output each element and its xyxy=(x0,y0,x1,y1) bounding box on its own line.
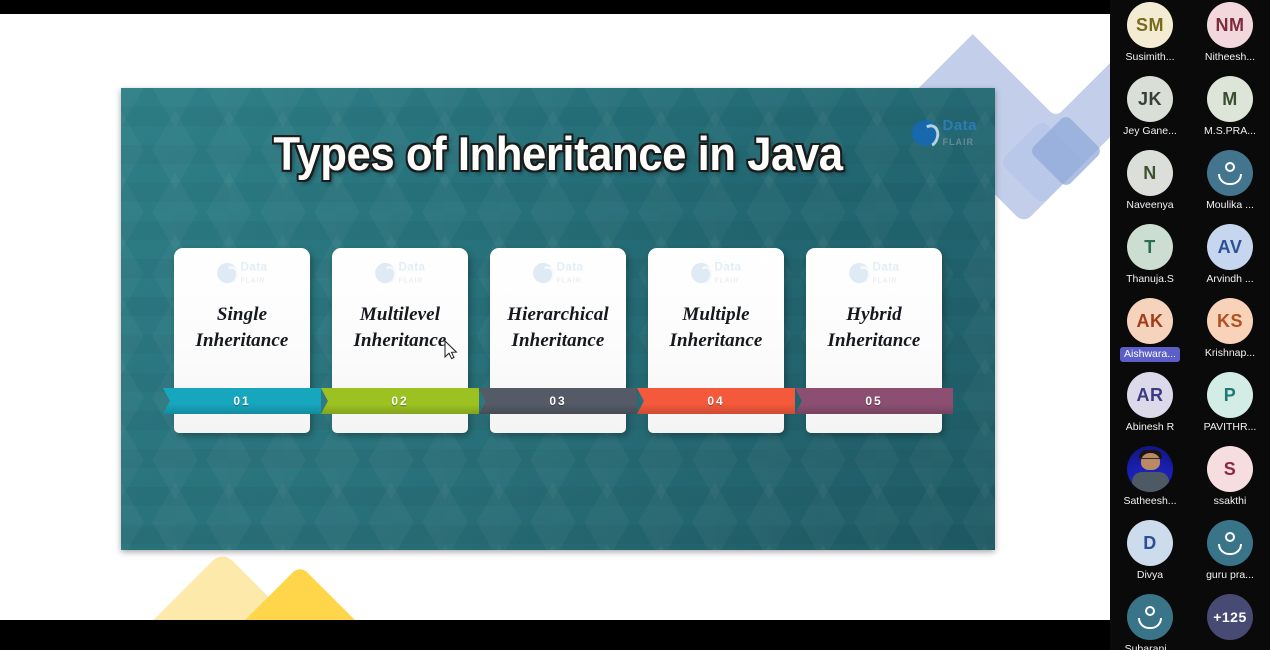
participant-tile[interactable]: AVArvindh ... xyxy=(1191,222,1269,296)
participant-tile[interactable]: +125 xyxy=(1191,592,1269,650)
card-title: Multiple Inheritance xyxy=(648,302,784,353)
letterbox-bar-top xyxy=(0,7,1110,14)
logo-secondary-text: FLAIR xyxy=(556,276,581,284)
card-number-ribbon: 02 xyxy=(321,388,479,414)
participant-tile[interactable]: MM.S.PRA... xyxy=(1191,74,1269,148)
participant-avatar: NM xyxy=(1207,2,1253,48)
logo-primary-text: Data xyxy=(872,261,899,274)
logo-primary-text: Data xyxy=(398,261,425,274)
person-icon xyxy=(1127,594,1173,640)
participant-avatar: M xyxy=(1207,76,1253,122)
participant-name: Krishnap... xyxy=(1205,347,1255,360)
participant-tile[interactable]: SMSusimith... xyxy=(1111,0,1189,74)
card-title-line2: Inheritance xyxy=(354,330,447,351)
participant-tile[interactable]: Satheesh... xyxy=(1111,444,1189,518)
participant-name: PAVITHR... xyxy=(1204,421,1257,434)
letterbox-bar-bottom xyxy=(0,620,1110,635)
participant-name: Satheesh... xyxy=(1123,495,1176,508)
participant-tile[interactable]: NNaveenya xyxy=(1111,148,1189,222)
participant-avatar: T xyxy=(1127,224,1173,270)
inheritance-card-list: Data FLAIR Single Inheritance 01 xyxy=(121,248,995,448)
participant-avatar: AR xyxy=(1127,372,1173,418)
card-title-line1: Multiple xyxy=(682,304,749,325)
dataflair-logo-icon xyxy=(217,263,237,283)
participant-avatar: D xyxy=(1127,520,1173,566)
participant-name: M.S.PRA... xyxy=(1204,125,1256,138)
card-number: 03 xyxy=(549,394,566,408)
card-watermark-logo: Data FLAIR xyxy=(533,261,583,285)
participant-rail[interactable]: SMSusimith...NMNitheesh...JKJey Gane...M… xyxy=(1110,0,1270,650)
participant-tile[interactable]: AKAishwara... xyxy=(1111,296,1189,370)
participant-name: Moulika ... xyxy=(1206,199,1254,212)
slide-title: Types of Inheritance in Java xyxy=(152,126,965,181)
participant-tile[interactable]: guru pra... xyxy=(1191,518,1269,592)
participant-avatar: S xyxy=(1207,446,1253,492)
card-title-line2: Inheritance xyxy=(512,330,605,351)
meeting-window: Types of Inheritance in Java Data FLAIR … xyxy=(0,0,1270,650)
dataflair-logo-icon xyxy=(691,263,711,283)
participant-tile[interactable]: Sssakthi xyxy=(1191,444,1269,518)
participant-tile[interactable]: Moulika ... xyxy=(1191,148,1269,222)
screen-share-stage[interactable]: Types of Inheritance in Java Data FLAIR … xyxy=(0,7,1110,635)
participant-tile[interactable]: Subaranj... xyxy=(1111,592,1189,650)
card-title-line1: Multilevel xyxy=(360,304,440,325)
card-number-ribbon: 01 xyxy=(163,388,321,414)
card-title: Multilevel Inheritance xyxy=(332,302,468,353)
logo-primary-text: Data xyxy=(556,261,583,274)
participant-avatar: AV xyxy=(1207,224,1253,270)
card-number: 05 xyxy=(865,394,882,408)
card-watermark-logo: Data FLAIR xyxy=(375,261,425,285)
participant-avatar: P xyxy=(1207,372,1253,418)
participant-video-feed xyxy=(1127,446,1173,492)
participant-tile[interactable]: NMNitheesh... xyxy=(1191,0,1269,74)
decorative-shape-diamond-light xyxy=(1000,120,1085,205)
participant-name: Abinesh R xyxy=(1126,421,1174,434)
participant-avatar: SM xyxy=(1127,2,1173,48)
participant-tile[interactable]: JKJey Gane... xyxy=(1111,74,1189,148)
card-watermark-logo: Data FLAIR xyxy=(849,261,899,285)
participant-tile[interactable]: KSKrishnap... xyxy=(1191,296,1269,370)
card-number-ribbon: 05 xyxy=(795,388,953,414)
inheritance-card[interactable]: Data FLAIR Hybrid Inheritance 05 xyxy=(806,248,942,433)
participant-tile[interactable]: ARAbinesh R xyxy=(1111,370,1189,444)
participant-name: Subaranj... xyxy=(1125,643,1176,650)
dataflair-logo-icon xyxy=(849,263,869,283)
participant-avatar: JK xyxy=(1127,76,1173,122)
dataflair-logo: Data FLAIR xyxy=(912,118,977,148)
decorative-shape-diamond-dark xyxy=(1029,114,1103,188)
card-title-line2: Inheritance xyxy=(670,330,763,351)
logo-secondary-text: FLAIR xyxy=(398,276,423,284)
person-icon xyxy=(1207,520,1253,566)
participant-name: Nitheesh... xyxy=(1205,51,1255,64)
card-number: 04 xyxy=(707,394,724,408)
participant-name: Jey Gane... xyxy=(1123,125,1177,138)
inheritance-card[interactable]: Data FLAIR Multiple Inheritance 04 xyxy=(648,248,784,433)
card-title: Hybrid Inheritance xyxy=(806,302,942,353)
logo-secondary-text: FLAIR xyxy=(240,276,265,284)
participant-name: ssakthi xyxy=(1214,495,1247,508)
logo-primary-text: Data xyxy=(240,261,267,274)
card-title-line1: Hierarchical xyxy=(507,304,608,325)
participant-name: Susimith... xyxy=(1125,51,1174,64)
logo-primary-text: Data xyxy=(942,117,977,134)
card-number-ribbon: 03 xyxy=(479,388,637,414)
card-watermark-logo: Data FLAIR xyxy=(217,261,267,285)
card-watermark-logo: Data FLAIR xyxy=(691,261,741,285)
participant-name: Arvindh ... xyxy=(1206,273,1253,286)
card-title: Hierarchical Inheritance xyxy=(490,302,626,353)
participant-avatar: N xyxy=(1127,150,1173,196)
inheritance-card[interactable]: Data FLAIR Single Inheritance 01 xyxy=(174,248,310,433)
participant-avatar: KS xyxy=(1207,298,1253,344)
participant-tile[interactable]: PPAVITHR... xyxy=(1191,370,1269,444)
dataflair-logo-icon xyxy=(912,120,938,146)
participant-name: guru pra... xyxy=(1206,569,1254,582)
card-title-line2: Inheritance xyxy=(828,330,921,351)
overflow-count-badge: +125 xyxy=(1207,594,1253,640)
presentation-slide: Types of Inheritance in Java Data FLAIR … xyxy=(121,88,995,550)
participant-name: Divya xyxy=(1137,569,1163,582)
logo-primary-text: Data xyxy=(714,261,741,274)
card-number-ribbon: 04 xyxy=(637,388,795,414)
participant-tile[interactable]: TThanuja.S xyxy=(1111,222,1189,296)
logo-secondary-text: FLAIR xyxy=(942,137,974,147)
participant-tile[interactable]: DDivya xyxy=(1111,518,1189,592)
person-icon xyxy=(1207,150,1253,196)
participant-name: Naveenya xyxy=(1126,199,1173,212)
logo-secondary-text: FLAIR xyxy=(872,276,897,284)
dataflair-logo-icon xyxy=(533,263,553,283)
card-number: 02 xyxy=(391,394,408,408)
card-number: 01 xyxy=(233,394,250,408)
card-title-line1: Single xyxy=(217,304,267,325)
card-title-line1: Hybrid xyxy=(846,304,902,325)
dataflair-logo-icon xyxy=(375,263,395,283)
card-title-line2: Inheritance xyxy=(196,330,289,351)
card-title: Single Inheritance xyxy=(174,302,310,353)
logo-secondary-text: FLAIR xyxy=(714,276,739,284)
participant-avatar: AK xyxy=(1127,298,1173,344)
participant-name: Thanuja.S xyxy=(1126,273,1174,286)
participant-name: Aishwara... xyxy=(1120,347,1180,362)
inheritance-card[interactable]: Data FLAIR Multilevel Inheritance 02 xyxy=(332,248,468,433)
inheritance-card[interactable]: Data FLAIR Hierarchical Inheritance 03 xyxy=(490,248,626,433)
